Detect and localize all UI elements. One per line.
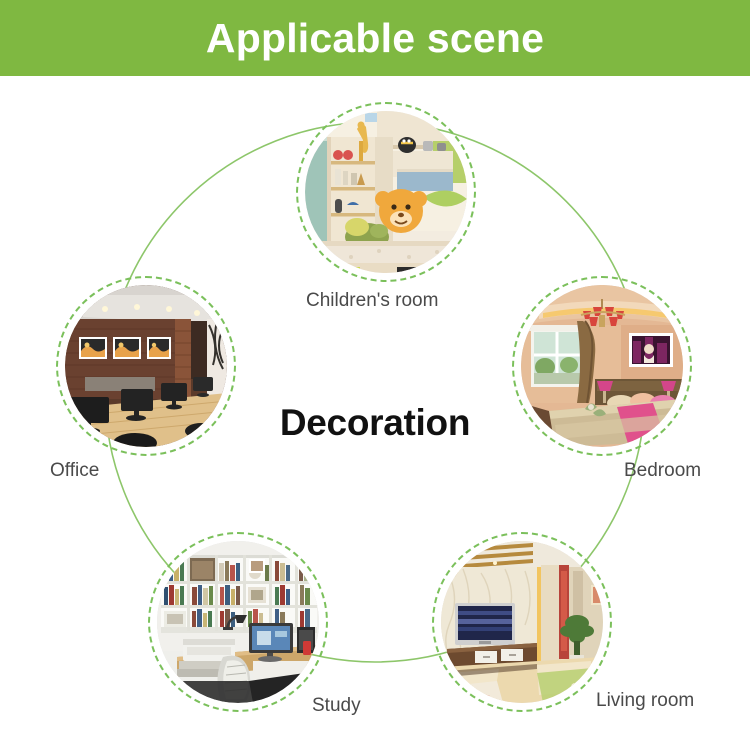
- node-label-children-room: Children's room: [306, 291, 438, 310]
- node-living-room[interactable]: [432, 532, 612, 712]
- living-room-illustration: [441, 541, 603, 703]
- node-label-bedroom: Bedroom: [624, 461, 701, 480]
- node-bedroom[interactable]: [512, 276, 692, 456]
- bedroom-photo: [521, 285, 683, 447]
- living-room-photo: [441, 541, 603, 703]
- page-title: Applicable scene: [206, 18, 544, 59]
- node-label-study: Study: [312, 696, 361, 715]
- node-children-room[interactable]: [296, 102, 476, 282]
- office-illustration: [65, 285, 227, 447]
- node-label-living-room: Living room: [596, 691, 694, 710]
- children-room-photo: [305, 111, 467, 273]
- node-study[interactable]: [148, 532, 328, 712]
- study-illustration: [157, 541, 319, 703]
- bedroom-illustration: [521, 285, 683, 447]
- node-label-office: Office: [50, 461, 99, 480]
- study-photo: [157, 541, 319, 703]
- scene-diagram: Decoration: [0, 76, 750, 750]
- office-photo: [65, 285, 227, 447]
- header-banner: Applicable scene: [0, 0, 750, 76]
- node-office[interactable]: [56, 276, 236, 456]
- applicable-scene-infographic: Applicable scene Decoration: [0, 0, 750, 750]
- children-room-illustration: [305, 111, 467, 273]
